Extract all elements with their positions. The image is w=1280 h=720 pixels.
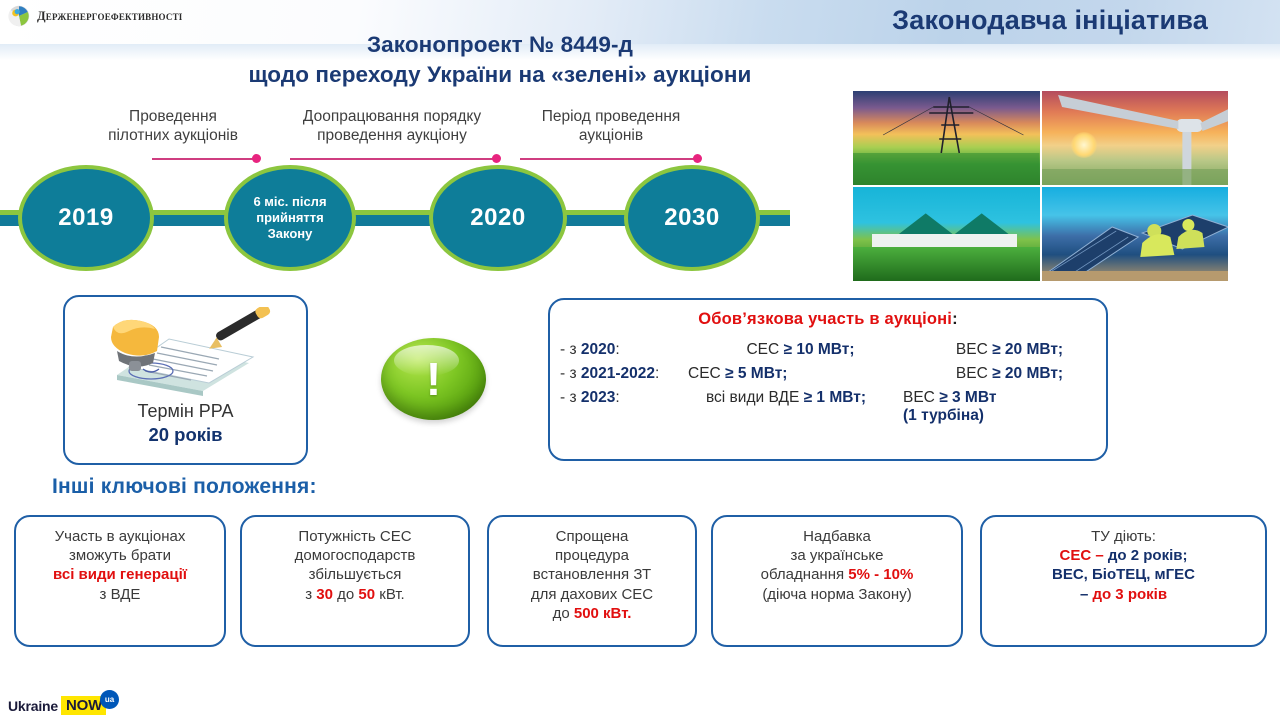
collage-image-biogas-plant-with-cornfield — [853, 187, 1040, 281]
provision-text: Надбавка за українське обладнання 5% - 1… — [721, 527, 953, 604]
period-colon: : — [615, 341, 619, 358]
provision-text: Спрощена процедура встановлення ЗТ для д… — [497, 527, 687, 623]
line: Потужність СЕС — [250, 527, 460, 546]
collage-image-solar-panels-with-workers — [1042, 187, 1229, 281]
auction-row-wind: ВЕС ≥ 3 МВт (1 турбіна) — [903, 389, 1106, 425]
line: зможуть брати — [24, 546, 216, 565]
solar-label: СЕС — [746, 341, 783, 358]
mandatory-auction-title-text: Обов’язкова участь в аукціоні — [698, 310, 952, 328]
provision-text: ТУ діють: СЕС – до 2 років; ВЕС, БіоТЕЦ,… — [990, 527, 1257, 604]
timeline-node-2020[interactable]: 2020 — [429, 165, 567, 271]
provision-box-household-capacity: Потужність СЕС домогосподарств збільшуєт… — [240, 515, 470, 647]
agency-logo: Держенергоефективності — [8, 5, 182, 27]
line: Участь в аукціонах — [24, 527, 216, 546]
line: з ВДЕ — [24, 585, 216, 604]
line: за українське — [721, 546, 953, 565]
provision-box-simplified-procedure: Спрощена процедура встановлення ЗТ для д… — [487, 515, 697, 647]
mandatory-auction-rows: - з 2020: СЕС ≥ 10 МВт; ВЕС ≥ 20 МВт; - … — [550, 338, 1106, 428]
auction-row-2020: - з 2020: СЕС ≥ 10 МВт; ВЕС ≥ 20 МВт; — [550, 338, 1106, 362]
auction-row-2021-2022: - з 2021-2022: СЕС ≥ 5 МВт; ВЕС ≥ 20 МВт… — [550, 362, 1106, 386]
auction-row-2023: - з 2023: всі види ВДЕ ≥ 1 МВт; ВЕС ≥ 3 … — [550, 386, 1106, 428]
provision-box-auction-participation: Участь в аукціонах зможуть брати всі вид… — [14, 515, 226, 647]
wind-threshold: ≥ 20 МВт; — [992, 365, 1063, 382]
auction-row-period: - з 2020: — [560, 341, 688, 359]
timeline-dot-3 — [693, 154, 702, 163]
ua-badge: ua — [100, 690, 119, 709]
ppa-term-value: 20 років — [148, 424, 222, 445]
line: Надбавка — [721, 527, 953, 546]
mandatory-auction-title: Обов’язкова участь в аукціоні: — [550, 310, 1106, 329]
label-line2: пілотних аукціонів — [78, 127, 268, 146]
timeline-label-procedure-refinement: Доопрацювання порядку проведення аукціон… — [268, 108, 516, 146]
period-colon: : — [615, 389, 619, 406]
header-title: Законодавча ініціатива — [892, 5, 1208, 36]
other-provisions-title: Інші ключові положення: — [52, 475, 317, 499]
timeline-connector-3 — [520, 158, 700, 160]
exclamation-icon: ! — [381, 338, 486, 420]
ukraine-word: Ukraine — [8, 698, 58, 714]
page-title: Законопроект № 8449-д щодо переходу Укра… — [150, 30, 850, 89]
all-res-label: всі види ВДЕ — [706, 389, 804, 406]
line: збільшується — [250, 565, 460, 584]
mandatory-auction-title-colon: : — [952, 310, 958, 328]
label-line1: Доопрацювання порядку — [268, 108, 516, 127]
page-title-line2: щодо переходу України на «зелені» аукціо… — [150, 60, 850, 90]
line: ВЕС, БіоТЕЦ, мГЕС — [990, 565, 1257, 584]
label-line2: аукціонів — [512, 127, 710, 146]
collage-image-power-lines-over-field — [853, 91, 1040, 185]
timeline-label-pilot-auctions: Проведення пілотних аукціонів — [78, 108, 268, 146]
wind-label: ВЕС — [903, 389, 939, 406]
period-value: 2020 — [581, 341, 615, 358]
line: домогосподарств — [250, 546, 460, 565]
timeline-dot-2 — [492, 154, 501, 163]
timeline: Проведення пілотних аукціонів Доопрацюва… — [0, 100, 830, 285]
provision-text: Участь в аукціонах зможуть брати всі вид… — [24, 527, 216, 604]
timeline-connector-2 — [290, 158, 498, 160]
solar-threshold: ≥ 5 МВт; — [725, 365, 787, 382]
provision-box-equipment-bonus: Надбавка за українське обладнання 5% - 1… — [711, 515, 963, 647]
timeline-node-2030[interactable]: 2030 — [624, 165, 760, 271]
label-line1: Проведення — [78, 108, 268, 127]
wind-label: ВЕС — [956, 341, 992, 358]
timeline-node-2019[interactable]: 2019 — [18, 165, 154, 271]
line-mixed: з 30 до 50 кВт. — [250, 585, 460, 604]
solar-label: СЕС — [688, 365, 725, 382]
auction-row-period: - з 2021-2022: — [560, 365, 688, 383]
ppa-term-text: Термін PPA 20 років — [65, 399, 306, 448]
period-dash: - з — [560, 389, 581, 406]
solar-threshold: ≥ 10 МВт; — [784, 341, 855, 358]
line: встановлення ЗТ — [497, 565, 687, 584]
ukraine-now-logo: Ukraine NOW ua — [8, 690, 119, 720]
auction-row-period: - з 2023: — [560, 389, 688, 407]
period-colon: : — [655, 365, 659, 382]
stamp-and-document-icon — [93, 307, 283, 402]
all-res-threshold: ≥ 1 МВт; — [804, 389, 866, 406]
mandatory-auction-box: Обов’язкова участь в аукціоні: - з 2020:… — [548, 298, 1108, 461]
collage-image-wind-turbine-at-sunset — [1042, 91, 1229, 185]
line: ТУ діють: — [990, 527, 1257, 546]
line-mixed: обладнання 5% - 10% — [721, 565, 953, 584]
line-mixed: до 500 кВт. — [497, 604, 687, 623]
agency-name: Держенергоефективності — [37, 9, 182, 24]
line: Спрощена — [497, 527, 687, 546]
wind-threshold: ≥ 20 МВт; — [992, 341, 1063, 358]
wind-turbine-note: (1 турбіна) — [903, 407, 1106, 425]
line-mixed: – до 3 років — [990, 585, 1257, 604]
provision-text: Потужність СЕС домогосподарств збільшуєт… — [250, 527, 460, 604]
timeline-node-six-months-text: 6 міс. після прийняття Закону — [253, 194, 326, 243]
auction-row-all-res: всі види ВДЕ ≥ 1 МВт; — [688, 389, 903, 407]
timeline-node-six-months[interactable]: 6 міс. після прийняття Закону — [224, 165, 356, 271]
line-highlight: всі види генерації — [24, 565, 216, 584]
line: процедура — [497, 546, 687, 565]
photo-collage — [853, 91, 1228, 281]
auction-row-wind: ВЕС ≥ 20 МВт; — [913, 341, 1106, 359]
auction-row-wind: ВЕС ≥ 20 МВт; — [913, 365, 1106, 383]
line: (діюча норма Закону) — [721, 585, 953, 604]
exclamation-glyph: ! — [426, 356, 441, 402]
cornfield — [853, 247, 1040, 281]
agency-swirl-icon — [8, 5, 30, 27]
line-mixed: СЕС – до 2 років; — [990, 546, 1257, 565]
ppa-term-label: Термін PPA — [65, 399, 306, 423]
auction-row-solar: СЕС ≥ 10 МВт; — [688, 341, 913, 359]
line: для дахових СЕС — [497, 585, 687, 604]
period-value: 2023 — [581, 389, 615, 406]
timeline-label-auction-period: Період проведення аукціонів — [512, 108, 710, 146]
label-line1: Період проведення — [512, 108, 710, 127]
period-dash: - з — [560, 341, 581, 358]
timeline-dot-1 — [252, 154, 261, 163]
timeline-connector-1 — [152, 158, 256, 160]
label-line2: проведення аукціону — [268, 127, 516, 146]
ppa-term-box: Термін PPA 20 років — [63, 295, 308, 465]
period-dash: - з — [560, 365, 581, 382]
auction-row-solar: СЕС ≥ 5 МВт; — [688, 365, 913, 383]
page-title-line1: Законопроект № 8449-д — [150, 30, 850, 60]
period-value: 2021-2022 — [581, 365, 655, 382]
slide-root: Законодавча ініціатива Держенергоефектив… — [0, 0, 1280, 720]
provision-box-grid-terms: ТУ діють: СЕС – до 2 років; ВЕС, БіоТЕЦ,… — [980, 515, 1267, 647]
wind-threshold: ≥ 3 МВт — [939, 389, 996, 406]
wind-label: ВЕС — [956, 365, 992, 382]
